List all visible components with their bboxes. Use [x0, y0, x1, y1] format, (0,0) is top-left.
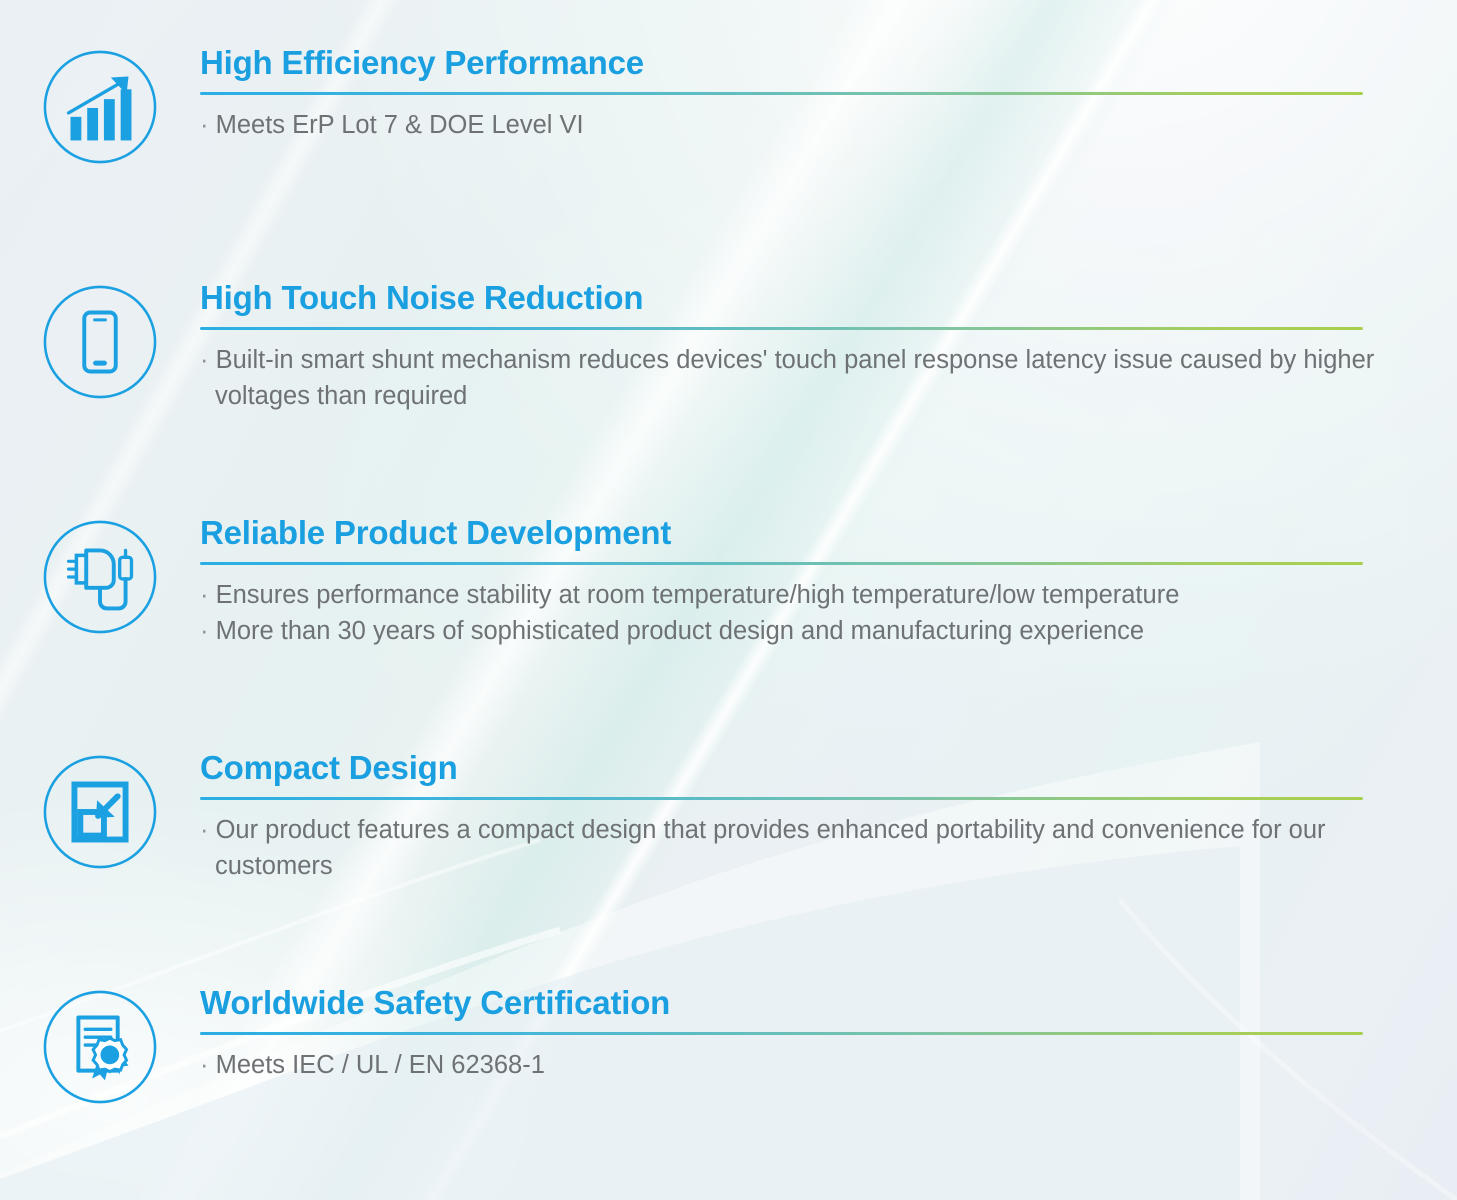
feature-row: Reliable Product Development · Ensures p… — [0, 514, 1457, 649]
feature-row: Compact Design · Our product features a … — [0, 749, 1457, 884]
bullet-item: · Meets IEC / UL / EN 62368-1 — [200, 1047, 1377, 1083]
bullet-item: · More than 30 years of sophisticated pr… — [200, 613, 1377, 649]
feature-divider — [200, 92, 1363, 95]
feature-body: High Efficiency Performance · Meets ErP … — [200, 44, 1457, 143]
bullet-item: · Meets ErP Lot 7 & DOE Level VI — [200, 107, 1377, 143]
bullet-text: Built-in smart shunt mechanism reduces d… — [215, 346, 1374, 410]
feature-bullets: · Built-in smart shunt mechanism reduces… — [200, 342, 1377, 414]
feature-body: Worldwide Safety Certification · Meets I… — [200, 984, 1457, 1083]
feature-row: High Touch Noise Reduction · Built-in sm… — [0, 279, 1457, 414]
certificate-award-icon — [41, 988, 159, 1106]
bullet-marker: · — [200, 816, 209, 844]
bullet-item: · Built-in smart shunt mechanism reduces… — [200, 342, 1377, 414]
compress-arrow-icon — [41, 753, 159, 871]
power-adapter-icon — [41, 518, 159, 636]
growth-bar-chart-icon — [41, 48, 159, 166]
feature-divider — [200, 327, 1363, 330]
feature-icon-slot — [0, 279, 200, 401]
bullet-marker: · — [200, 111, 209, 139]
feature-highlights-page: High Efficiency Performance · Meets ErP … — [0, 0, 1457, 1200]
bullet-text: Meets ErP Lot 7 & DOE Level VI — [216, 111, 584, 139]
feature-icon-slot — [0, 749, 200, 871]
feature-icon-slot — [0, 44, 200, 166]
bullet-text: Our product features a compact design th… — [215, 816, 1326, 880]
feature-title: Compact Design — [200, 749, 1377, 787]
feature-title: High Touch Noise Reduction — [200, 279, 1377, 317]
smartphone-icon — [41, 283, 159, 401]
feature-title: Worldwide Safety Certification — [200, 984, 1377, 1022]
feature-divider — [200, 797, 1363, 800]
bullet-marker: · — [200, 1051, 209, 1079]
bullet-item: · Ensures performance stability at room … — [200, 577, 1377, 613]
feature-bullets: · Meets ErP Lot 7 & DOE Level VI — [200, 107, 1377, 143]
feature-body: Reliable Product Development · Ensures p… — [200, 514, 1457, 649]
bullet-text: Ensures performance stability at room te… — [216, 581, 1180, 609]
feature-row: High Efficiency Performance · Meets ErP … — [0, 44, 1457, 166]
feature-icon-slot — [0, 984, 200, 1106]
feature-body: High Touch Noise Reduction · Built-in sm… — [200, 279, 1457, 414]
feature-icon-slot — [0, 514, 200, 636]
feature-title: Reliable Product Development — [200, 514, 1377, 552]
bullet-item: · Our product features a compact design … — [200, 812, 1377, 884]
feature-bullets: · Ensures performance stability at room … — [200, 577, 1377, 649]
feature-body: Compact Design · Our product features a … — [200, 749, 1457, 884]
bullet-text: More than 30 years of sophisticated prod… — [216, 617, 1144, 645]
feature-title: High Efficiency Performance — [200, 44, 1377, 82]
feature-divider — [200, 1032, 1363, 1035]
feature-divider — [200, 562, 1363, 565]
feature-row: Worldwide Safety Certification · Meets I… — [0, 984, 1457, 1106]
bullet-marker: · — [200, 581, 209, 609]
feature-bullets: · Our product features a compact design … — [200, 812, 1377, 884]
bullet-text: Meets IEC / UL / EN 62368-1 — [216, 1051, 545, 1079]
bullet-marker: · — [200, 346, 209, 374]
feature-bullets: · Meets IEC / UL / EN 62368-1 — [200, 1047, 1377, 1083]
bullet-marker: · — [200, 617, 209, 645]
